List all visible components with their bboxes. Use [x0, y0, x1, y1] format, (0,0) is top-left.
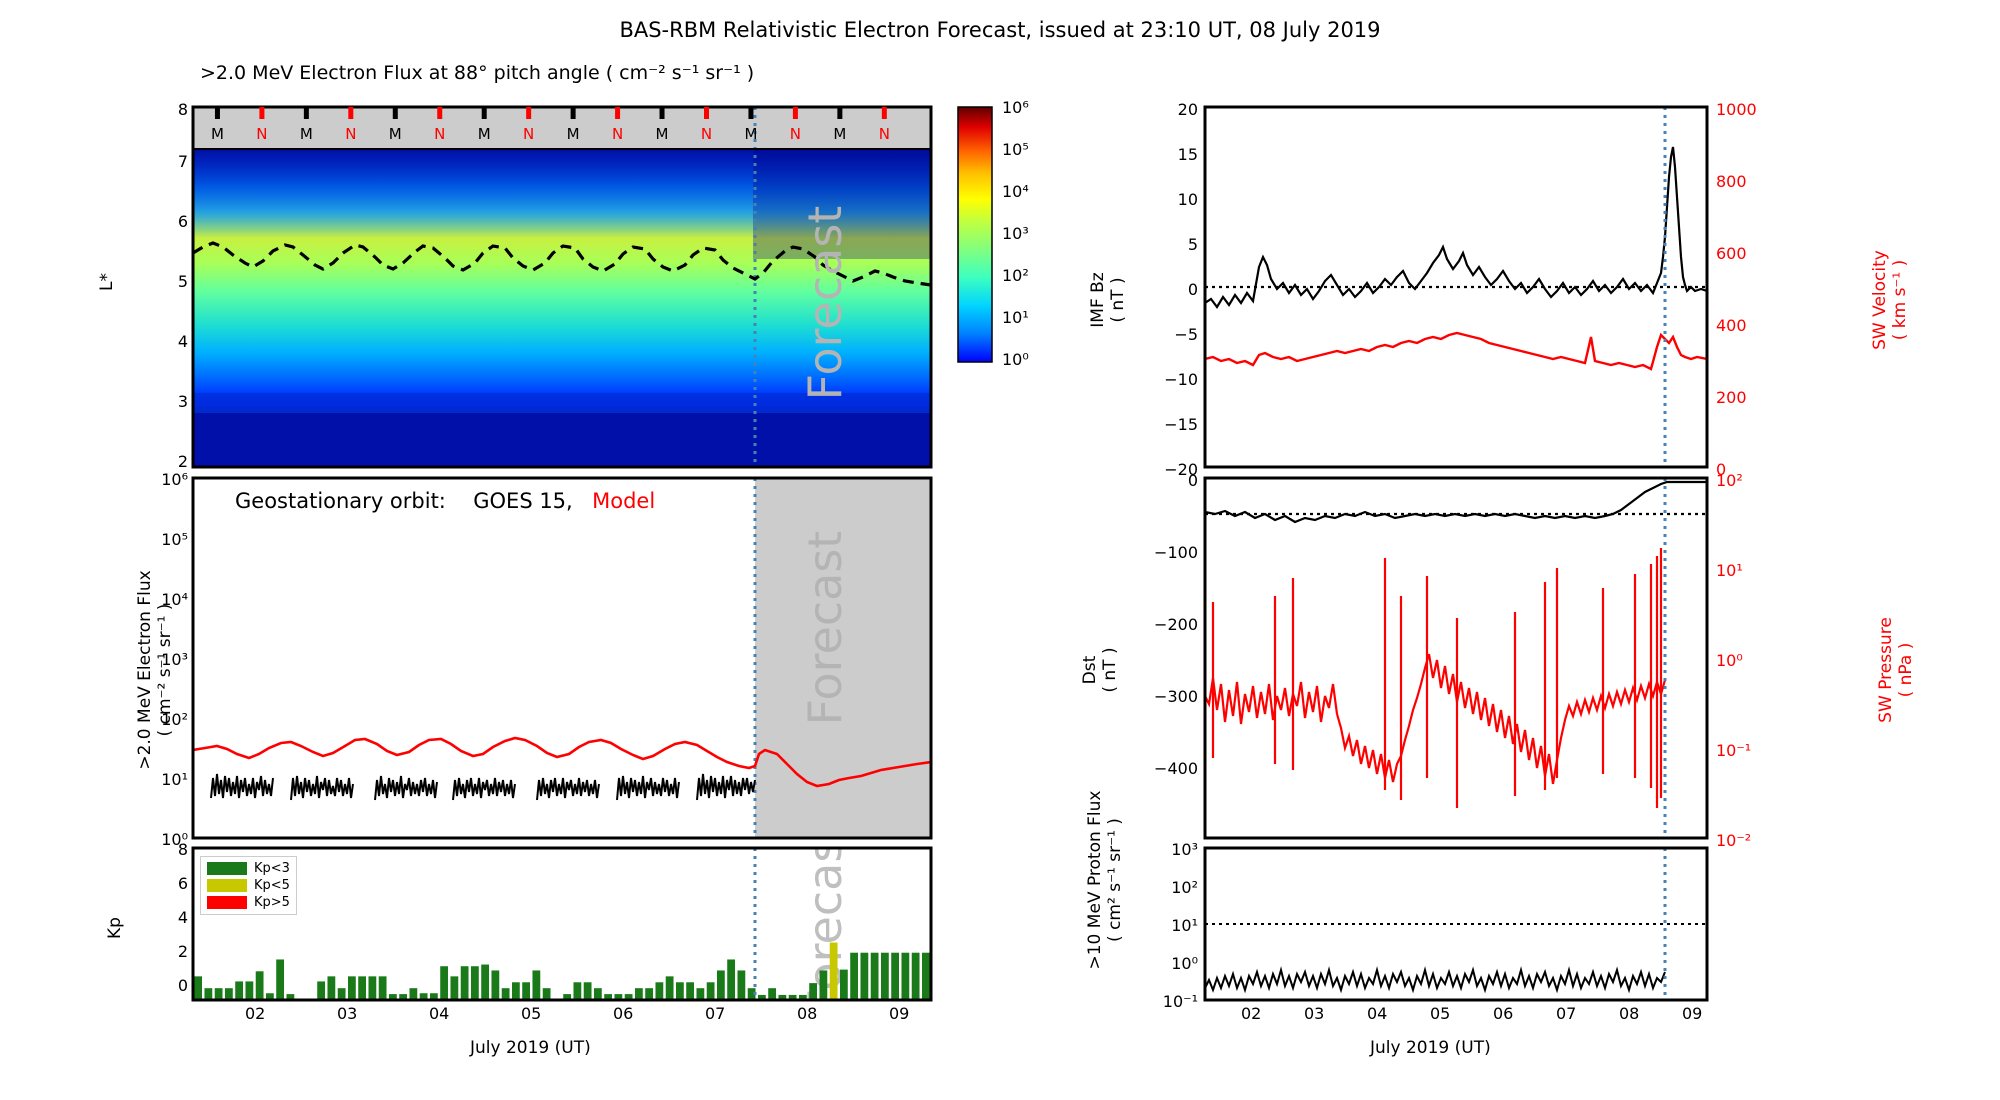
geo-flux-panel: Forecast [193, 478, 931, 838]
kp-bar [512, 982, 520, 1000]
spectrogram-marker-label: N [612, 125, 623, 143]
kp-legend-swatch-high [207, 896, 247, 909]
kp-legend-swatch-mid [207, 879, 247, 892]
geo-ylabel: >2.0 MeV Electron Flux ( cm⁻² s⁻¹ sr⁻¹ ) [135, 505, 175, 835]
kp-bar [532, 970, 540, 1000]
imf-ylabel-right-line2: ( km s⁻¹ ) [1890, 200, 1910, 400]
dst-ylabel-right: SW Pressure ( nPa ) [1876, 570, 1916, 770]
kp-bar [717, 970, 725, 1000]
geo-goes-curve [211, 774, 755, 800]
kp-bar [543, 988, 551, 1000]
spectrogram-marker-label: N [790, 125, 801, 143]
dst-curve [1205, 482, 1707, 522]
sw-pressure-curve [1205, 548, 1665, 808]
imf-ylabel-left-line2: ( nT ) [1108, 210, 1128, 390]
kp-bar [235, 981, 243, 1000]
kp-bar [881, 953, 889, 1000]
kp-bar [379, 976, 387, 1000]
colorbar [958, 107, 992, 362]
kp-bar [327, 976, 335, 1000]
proton-ylabel: >10 MeV Proton Flux ( cm² s⁻¹ sr⁻¹ ) [1085, 715, 1125, 1045]
imf-ylabel-right: SW Velocity ( km s⁻¹ ) [1870, 200, 1910, 400]
kp-bar [809, 983, 817, 1000]
spectrogram-marker-label: M [478, 125, 491, 143]
kp-bar [338, 988, 346, 1000]
kp-bar [481, 965, 489, 1000]
geo-ylabel-line1: >2.0 MeV Electron Flux [135, 505, 155, 835]
kp-bar [461, 966, 469, 1000]
imf-yticks-left: 20 15 10 5 0 −5 −10 −15 −20 [1140, 100, 1198, 472]
kp-bar [215, 988, 223, 1000]
kp-legend-label-mid: Kp<5 [254, 878, 290, 893]
spectrogram-marker-label: N [701, 125, 712, 143]
kp-legend-row: Kp<5 [207, 877, 290, 894]
kp-legend-row: Kp>5 [207, 894, 290, 911]
kp-bar [922, 953, 930, 1000]
kp-bar [676, 982, 684, 1000]
kp-yticks: 8 6 4 2 0 [150, 840, 188, 1012]
imf-ylabel-left: IMF Bz ( nT ) [1088, 210, 1128, 390]
dst-yticks-left: 0 −100 −200 −300 −400 [1122, 471, 1198, 849]
kp-bar [204, 988, 212, 1000]
kp-bar [194, 976, 202, 1000]
imf-panel [1205, 107, 1707, 467]
kp-bar [225, 988, 233, 1000]
kp-bar [471, 966, 479, 1000]
kp-bar [696, 988, 704, 1000]
spectrogram-marker-label: M [389, 125, 402, 143]
kp-bar [901, 953, 909, 1000]
kp-bar [871, 953, 879, 1000]
proton-ylabel-line1: >10 MeV Proton Flux [1085, 715, 1105, 1045]
geo-annotation-prefix: Geostationary orbit: [235, 489, 446, 513]
imf-ylabel-left-line1: IMF Bz [1088, 210, 1108, 390]
kp-bar [276, 959, 284, 1000]
sw-velocity-curve [1205, 333, 1707, 369]
left-xticks: 02 03 04 05 06 07 08 09 [193, 1004, 931, 1030]
spectrogram-yticks: 8 7 6 5 4 3 2 [150, 100, 188, 472]
kp-bar [635, 988, 643, 1000]
kp-bar [594, 988, 602, 1000]
kp-bar [368, 976, 376, 1000]
spectrogram-marker-label: M [300, 125, 313, 143]
spectrogram-marker-label: N [523, 125, 534, 143]
kp-bar [522, 982, 530, 1000]
kp-bar [860, 953, 868, 1000]
kp-bar [450, 976, 458, 1000]
kp-bar [491, 970, 499, 1000]
spectrogram-marker-label: N [434, 125, 445, 143]
right-xlabel: July 2019 (UT) [1370, 1038, 1491, 1058]
spectrogram-marker-label: M [656, 125, 669, 143]
kp-bar [850, 953, 858, 1000]
spectrogram-marker-label: M [211, 125, 224, 143]
kp-bar [573, 982, 581, 1000]
proton-ylabel-line2: ( cm² s⁻¹ sr⁻¹ ) [1105, 715, 1125, 1045]
kp-bar [245, 981, 253, 1000]
dst-ylabel-right-line1: SW Pressure [1876, 570, 1896, 770]
kp-bar [891, 953, 899, 1000]
imf-yticks-right: 1000 800 600 400 200 0 [1716, 100, 1786, 472]
spectrogram-marker-label: M [567, 125, 580, 143]
kp-bar [256, 971, 264, 1000]
geo-annotation-model: Model [592, 489, 655, 513]
right-xticks: 02 03 04 05 06 07 08 09 [1205, 1004, 1707, 1030]
proton-flux-curve [1205, 970, 1665, 990]
spectrogram-marker-label: N [256, 125, 267, 143]
kp-panel: Forecast [193, 848, 931, 1000]
kp-bar [912, 953, 920, 1000]
spectrogram-marker-label: M [833, 125, 846, 143]
spectrogram-marker-row: MNMNMNMNMNMNMNMN [193, 107, 931, 149]
spectrogram-marker-label: N [345, 125, 356, 143]
kp-legend-label-low: Kp<3 [254, 861, 290, 876]
dst-ylabel-right-line2: ( nPa ) [1896, 570, 1916, 770]
kp-bar [727, 959, 735, 1000]
kp-bar [440, 966, 448, 1000]
left-xlabel: July 2019 (UT) [470, 1038, 591, 1058]
kp-bar [358, 976, 366, 1000]
colorbar-ticklabels: 10⁶ 10⁵ 10⁴ 10³ 10² 10¹ 10⁰ [996, 98, 1066, 370]
kp-bar [348, 976, 356, 1000]
kp-bar [502, 988, 510, 1000]
kp-ylabel: Kp [105, 917, 125, 939]
spectrogram-marker-label: N [879, 125, 890, 143]
spectrogram-marker-label: M [744, 125, 757, 143]
dst-panel [1205, 478, 1707, 838]
proton-panel [1205, 848, 1707, 1000]
geo-ylabel-line2: ( cm⁻² s⁻¹ sr⁻¹ ) [155, 505, 175, 835]
kp-bar [840, 970, 848, 1000]
spectrogram-forecast-watermark: Forecast [798, 206, 852, 401]
kp-bar [737, 970, 745, 1000]
kp-legend-label-high: Kp>5 [254, 895, 290, 910]
kp-bar [707, 982, 715, 1000]
kp-bar [584, 982, 592, 1000]
kp-legend-swatch-low [207, 862, 247, 875]
dst-yticks-right: 10² 10¹ 10⁰ 10⁻¹ 10⁻² [1716, 471, 1796, 849]
kp-legend: Kp<3 Kp<5 Kp>5 [200, 856, 297, 915]
page-title: BAS-RBM Relativistic Electron Forecast, … [0, 18, 2000, 42]
kp-bar [645, 988, 653, 1000]
imf-bz-curve [1205, 147, 1707, 307]
geo-forecast-watermark: Forecast [798, 531, 852, 726]
kp-bar [768, 988, 776, 1000]
spectrogram-panel: Forecast [193, 107, 931, 467]
spectrogram-title: >2.0 MeV Electron Flux at 88° pitch angl… [200, 62, 754, 84]
geo-annotation-obs: GOES 15, [473, 489, 572, 513]
kp-bar [317, 981, 325, 1000]
kp-bar [819, 970, 827, 1000]
proton-yticks: 10³ 10² 10¹ 10⁰ 10⁻¹ [1122, 840, 1198, 1012]
kp-bar [830, 943, 838, 1000]
kp-bar [686, 982, 694, 1000]
kp-bar [655, 982, 663, 1000]
geo-annotation: Geostationary orbit: GOES 15, Model [235, 489, 655, 513]
kp-legend-row: Kp<3 [207, 860, 290, 877]
spectrogram-ylabel: L* [97, 273, 117, 291]
imf-ylabel-right-line1: SW Velocity [1870, 200, 1890, 400]
kp-bar [409, 988, 417, 1000]
kp-bar [666, 976, 674, 1000]
